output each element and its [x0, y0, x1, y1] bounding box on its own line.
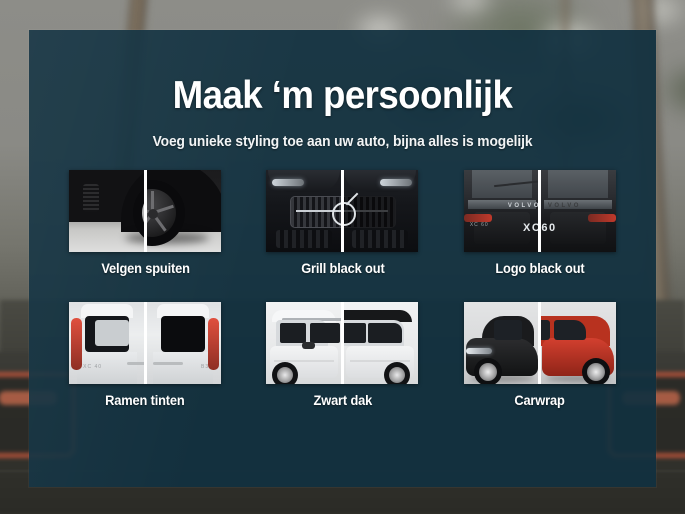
- thumb-before-half: VOLVO XC 60: [464, 170, 540, 252]
- screenshot-stage: Maak ‘m persoonlijk Voeg unieke styling …: [0, 0, 685, 514]
- before-after-divider: [341, 170, 344, 252]
- option-label: Velgen spuiten: [101, 261, 190, 276]
- tailgate-wordmark: VOLVO: [508, 203, 540, 209]
- thumb-before-half: [69, 170, 145, 252]
- thumb-after-half: B3: [145, 302, 221, 384]
- rear-badge: XC 40: [83, 364, 102, 370]
- thumb-before-half: [266, 302, 342, 384]
- option-label: Ramen tinten: [105, 393, 185, 408]
- thumb-after-half: [540, 302, 616, 384]
- option-label: Logo black out: [495, 261, 584, 276]
- thumb-after-half: [342, 302, 418, 384]
- page-title: Maak ‘m persoonlijk: [48, 74, 637, 118]
- window-tint-before-after-icon[interactable]: XC 40 B3: [69, 302, 221, 384]
- before-after-divider: [341, 302, 344, 384]
- tailgate-logo-before-after-icon[interactable]: VOLVO XC 60 VOLVO XC60: [464, 170, 616, 252]
- carwrap-before-after-icon[interactable]: [464, 302, 616, 384]
- wheel-before-after-icon[interactable]: [69, 170, 221, 252]
- grille-before-after-icon[interactable]: [266, 170, 418, 252]
- black-roof-before-after-icon[interactable]: [266, 302, 418, 384]
- option-label: Grill black out: [301, 261, 384, 276]
- personalisation-panel: Maak ‘m persoonlijk Voeg unieke styling …: [29, 30, 656, 487]
- thumb-after-half: [145, 170, 221, 252]
- before-after-divider: [538, 302, 541, 384]
- tailgate-wordmark: VOLVO: [548, 203, 581, 209]
- option-label: Zwart dak: [313, 393, 372, 408]
- option-card-logo-black-out[interactable]: VOLVO XC 60 VOLVO XC60 Logo black out: [457, 170, 623, 276]
- option-card-velgen-spuiten[interactable]: Velgen spuiten: [62, 170, 228, 276]
- thumb-before-half: [464, 302, 540, 384]
- option-label: Carwrap: [515, 393, 565, 408]
- option-grid: Velgen spuiten: [62, 170, 623, 408]
- option-card-ramen-tinten[interactable]: XC 40 B3 Ramen tinten: [62, 302, 228, 408]
- option-card-carwrap[interactable]: Carwrap: [457, 302, 623, 408]
- thumb-before-half: [266, 170, 342, 252]
- thumb-after-half: VOLVO: [540, 170, 616, 252]
- option-card-zwart-dak[interactable]: Zwart dak: [259, 302, 425, 408]
- before-after-divider: [144, 302, 147, 384]
- thumb-before-half: XC 40: [69, 302, 145, 384]
- option-card-grill-black-out[interactable]: Grill black out: [259, 170, 425, 276]
- before-after-divider: [144, 170, 147, 252]
- before-after-divider: [538, 170, 541, 252]
- rear-badge-right: B3: [201, 364, 209, 370]
- page-subtitle: Voeg unieke styling toe aan uw auto, bij…: [45, 134, 641, 150]
